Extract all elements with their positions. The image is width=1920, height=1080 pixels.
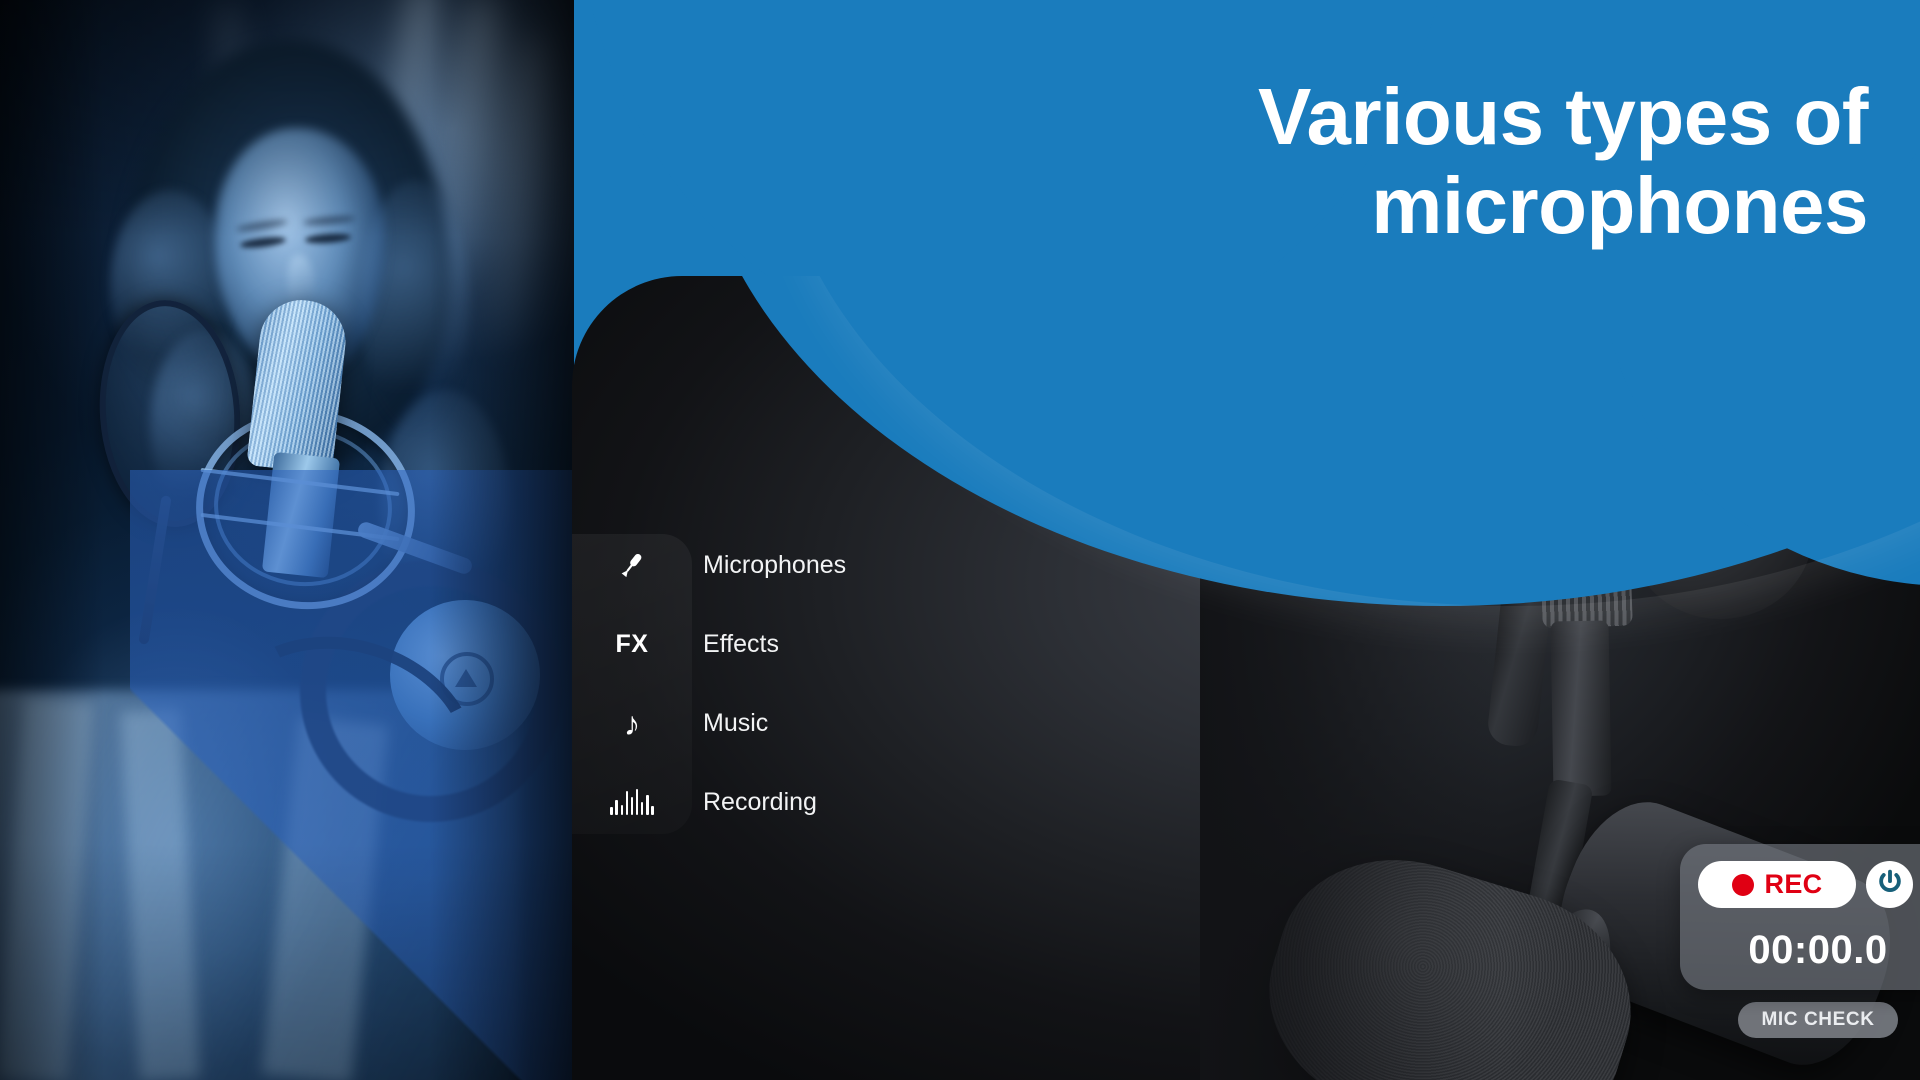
recording-timer: 00:00.0	[1680, 928, 1920, 973]
sidebar-nav: Microphones FX Effects ♪ Music	[572, 534, 992, 834]
music-note-glyph: ♪	[624, 707, 641, 740]
record-dot-icon	[1732, 874, 1754, 896]
recorder-widget: REC 00:00.0 MIC CHECK	[1680, 844, 1920, 1038]
singer-photo	[0, 0, 580, 1080]
waveform-icon	[572, 789, 692, 815]
page-title-line-2: microphones	[788, 161, 1868, 251]
page-title-line-1: Various types of	[788, 72, 1868, 162]
sidebar-item-label: Music	[692, 709, 768, 738]
app-panel: Microphones FX Effects ♪ Music	[572, 276, 1920, 1080]
sidebar-item-label: Microphones	[692, 551, 846, 580]
microphone-icon	[572, 550, 692, 580]
recorder-card: REC 00:00.0	[1680, 844, 1920, 990]
page-title: Various types of microphones	[788, 72, 1868, 251]
record-button-label: REC	[1765, 869, 1823, 900]
sidebar-item-recording[interactable]: Recording	[572, 771, 992, 833]
mic-check-button[interactable]: MIC CHECK	[1738, 1002, 1898, 1038]
fx-icon-glyph: FX	[616, 630, 649, 659]
music-note-icon: ♪	[572, 707, 692, 740]
sidebar-item-music[interactable]: ♪ Music	[572, 692, 992, 754]
sidebar-item-effects[interactable]: FX Effects	[572, 613, 992, 675]
sidebar-item-label: Recording	[692, 788, 817, 817]
power-icon	[1876, 868, 1904, 901]
record-button[interactable]: REC	[1698, 861, 1856, 908]
power-button[interactable]	[1866, 861, 1913, 908]
fx-icon: FX	[572, 630, 692, 659]
slide-canvas: Microphones FX Effects ♪ Music	[0, 0, 1920, 1080]
sidebar-item-label: Effects	[692, 630, 779, 659]
sidebar-item-microphones[interactable]: Microphones	[572, 534, 992, 596]
